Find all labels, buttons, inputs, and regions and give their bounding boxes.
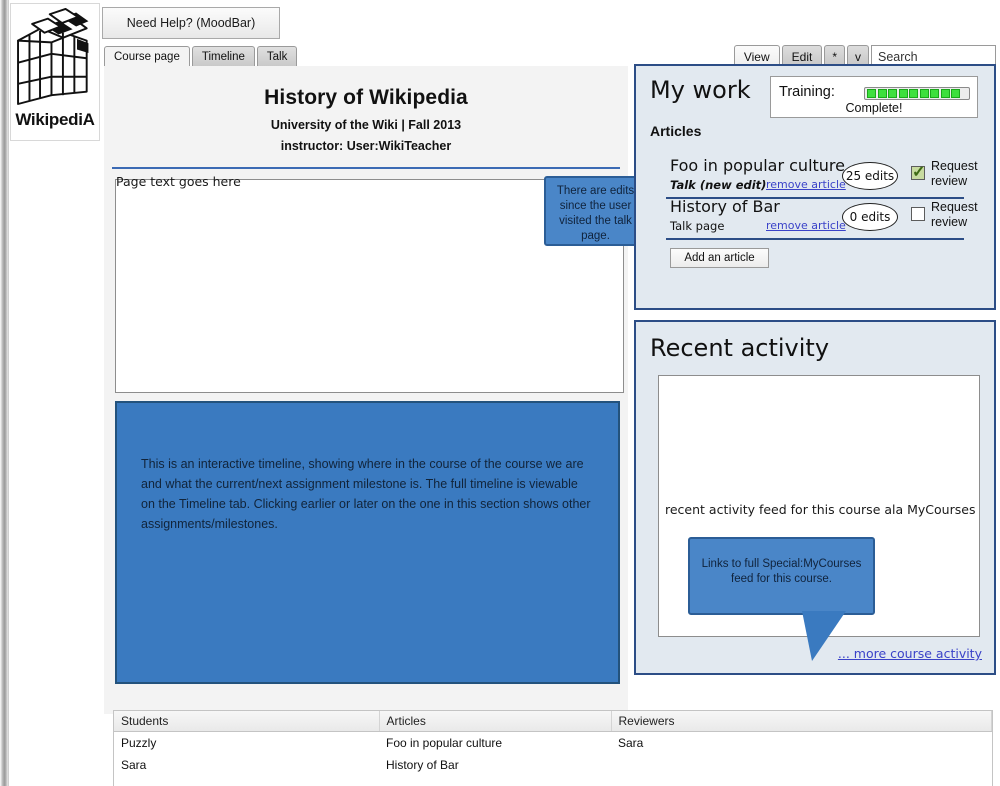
request-review-label: Request review [931,200,991,230]
remove-article-link[interactable]: remove article [766,178,846,191]
cell-reviewer [611,754,992,776]
request-review-label: Request review [931,159,991,189]
article-talk-status[interactable]: Talk (new edit) [670,178,766,192]
request-review-checkbox[interactable] [911,166,925,180]
training-complete-label: Complete! [771,101,977,115]
training-status-box: Training: Complete! [770,76,978,118]
add-article-button[interactable]: Add an article [670,248,769,268]
cell-reviewer: Sara [611,732,992,755]
tab-course-page[interactable]: Course page [104,46,190,66]
timeline-description: This is an interactive timeline, showing… [141,454,591,534]
cell-student: Sara [114,754,379,776]
cell-article: Foo in popular culture [379,732,611,755]
callout-mycourses-text: Links to full Special:MyCourses feed for… [702,558,862,585]
article-title[interactable]: Foo in popular culture [670,156,845,175]
article-divider [666,238,964,240]
request-review-checkbox[interactable] [911,207,925,221]
course-subtitle: University of the Wiki | Fall 2013 [104,118,628,132]
training-label: Training: [779,84,835,100]
puzzle-cube-icon [11,6,99,114]
page-title: History of Wikipedia [104,66,628,110]
edit-count-badge: 25 edits [842,162,898,190]
title-divider [112,167,620,169]
my-work-panel: My work Training: Complete! Articles Foo… [634,64,996,310]
article-talk-status[interactable]: Talk page [670,219,724,233]
site-logo[interactable]: WikipediA [10,3,100,141]
column-header-articles[interactable]: Articles [379,711,611,732]
callout-tail [802,611,846,661]
callout-mycourses: Links to full Special:MyCourses feed for… [688,537,875,615]
callout-talk-text: There are edits since the user visited t… [557,185,634,242]
tab-timeline[interactable]: Timeline [192,46,255,66]
left-scrollbar[interactable] [0,0,9,786]
column-header-students[interactable]: Students [114,711,379,732]
students-table-wrapper: Students Articles Reviewers Puzzly Foo i… [113,710,993,786]
activity-feed-text: recent activity feed for this course ala… [665,502,975,517]
course-content-pane: History of Wikipedia University of the W… [104,66,628,714]
page-tabs: Course page Timeline Talk [104,46,299,66]
table-row: Sara History of Bar [114,754,992,776]
tab-talk[interactable]: Talk [257,46,297,66]
course-instructor: instructor: User:WikiTeacher [104,139,628,153]
more-course-activity-link[interactable]: ... more course activity [838,646,982,661]
cell-article: History of Bar [379,754,611,776]
interactive-timeline-box[interactable]: This is an interactive timeline, showing… [115,401,620,684]
callout-talk-edits: There are edits since the user visited t… [544,176,647,246]
training-progress-bar [864,87,970,100]
page-text: Page text goes here [116,174,241,189]
students-table: Students Articles Reviewers Puzzly Foo i… [114,711,992,776]
article-row: History of Bar Talk page remove article … [636,197,998,247]
column-header-reviewers[interactable]: Reviewers [611,711,992,732]
page-root: WikipediA Need Help? (MoodBar) Course pa… [0,0,1000,786]
edit-count-badge: 0 edits [842,203,898,231]
site-wordmark: WikipediA [15,110,94,130]
table-row: Puzzly Foo in popular culture Sara [114,732,992,755]
remove-article-link[interactable]: remove article [766,219,846,232]
table-header-row: Students Articles Reviewers [114,711,992,732]
cell-student: Puzzly [114,732,379,755]
recent-activity-title: Recent activity [650,334,829,362]
my-work-title: My work [650,76,751,104]
articles-heading: Articles [650,123,701,139]
article-title[interactable]: History of Bar [670,197,780,216]
moodbar-button[interactable]: Need Help? (MoodBar) [102,7,280,39]
